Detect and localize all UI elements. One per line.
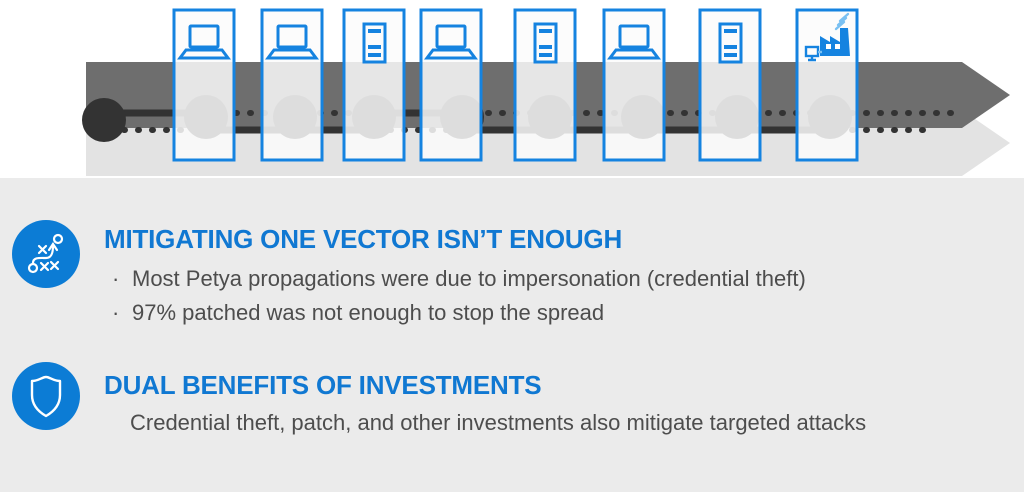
device-box-5[interactable] [515,10,575,160]
device-box-7[interactable] [700,10,760,160]
shield-icon [23,373,69,419]
device-box-8[interactable] [797,10,857,160]
takeaway-text-1: MITIGATING ONE VECTOR ISN’T ENOUGH · Mos… [104,220,1020,330]
list-item: · Most Petya propagations were due to im… [104,262,1020,296]
strategy-playbook-icon [22,230,70,278]
device-box-1[interactable] [174,10,234,160]
device-box-2[interactable] [262,10,322,160]
node-circle [82,98,126,142]
device-box-4[interactable] [421,10,481,160]
list-item-label: 97% patched was not enough to stop the s… [132,300,604,325]
strategy-playbook-badge [12,220,80,288]
bullet-marker: · [112,296,119,330]
takeaway-heading: MITIGATING ONE VECTOR ISN’T ENOUGH [104,224,1020,254]
takeaway-bullet-list: · Most Petya propagations were due to im… [104,262,1020,330]
takeaways-panel: MITIGATING ONE VECTOR ISN’T ENOUGH · Mos… [0,178,1024,492]
takeaway-body: Credential theft, patch, and other inves… [130,406,1020,440]
takeaway-heading: DUAL BENEFITS OF INVESTMENTS [104,370,1020,400]
list-item-label: Most Petya propagations were due to impe… [132,266,806,291]
list-item: · 97% patched was not enough to stop the… [104,296,1020,330]
slide-root: MITIGATING ONE VECTOR ISN’T ENOUGH · Mos… [0,0,1024,492]
bullet-marker: · [112,262,119,296]
takeaway-text-2: DUAL BENEFITS OF INVESTMENTS Credential … [104,362,1020,440]
device-box-3[interactable] [344,10,404,160]
propagation-diagram [0,0,1024,178]
shield-badge [12,362,80,430]
device-box-6[interactable] [604,10,664,160]
